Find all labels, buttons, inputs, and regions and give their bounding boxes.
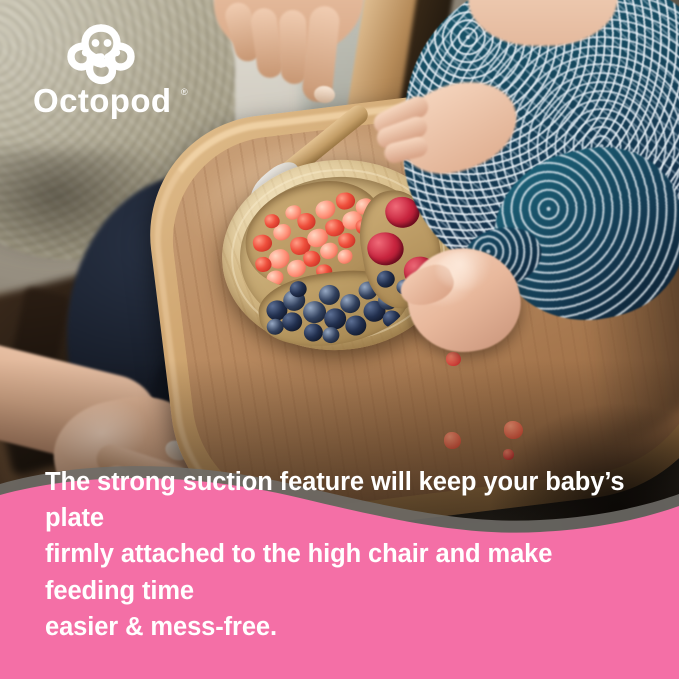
brand-wordmark: Octopod ® (33, 84, 208, 118)
logo-eye-left (92, 39, 100, 47)
caption-line-2: firmly attached to the high chair and ma… (45, 536, 637, 608)
caption-line-1: The strong suction feature will keep you… (45, 464, 637, 536)
caption-text: The strong suction feature will keep you… (45, 464, 637, 645)
baby-knuckle-highlight (436, 250, 496, 290)
logo-eye-right (104, 39, 112, 47)
caption-line-3: easier & mess-free. (45, 609, 637, 645)
product-lifestyle-banner: The strong suction feature will keep you… (0, 0, 679, 679)
octopus-logo-icon (60, 24, 142, 86)
trademark-symbol: ® (181, 87, 188, 97)
brand-name-text: Octopod (33, 84, 171, 119)
brand-logo: Octopod ® (33, 24, 223, 118)
